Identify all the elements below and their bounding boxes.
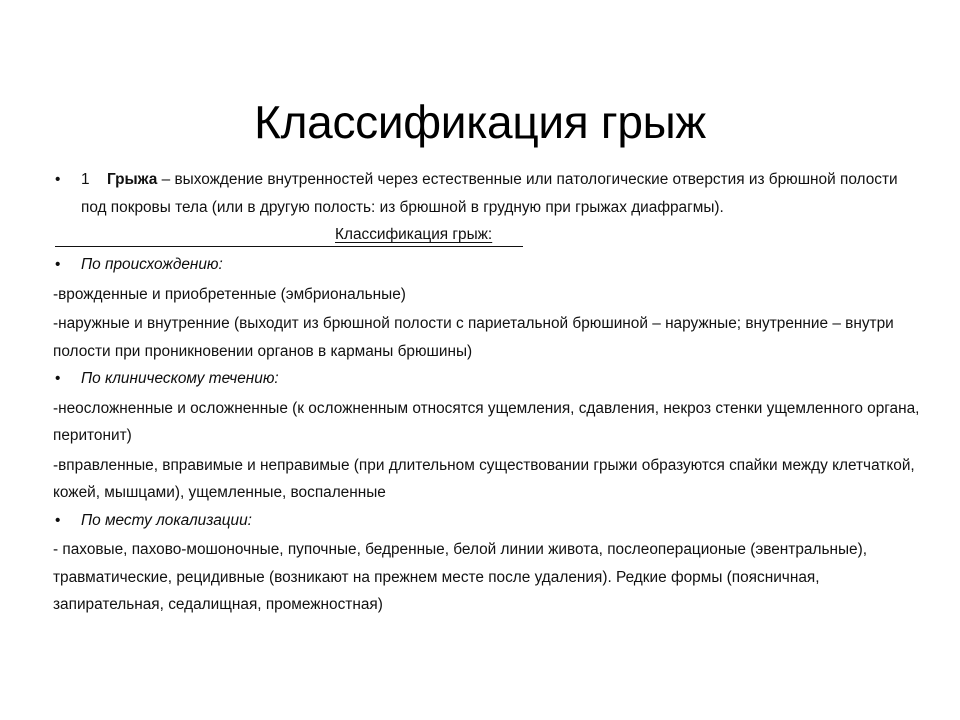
definition-term: Грыжа [107,171,157,188]
section-heading-clinical-course: • По клиническому течению: [47,365,927,393]
slide-canvas: Классификация грыж • 1Грыжа – выхождение… [0,0,960,720]
detail-line: -врожденные и приобретенные (эмбриональн… [47,281,927,309]
bullet-icon: • [55,365,60,393]
subheading-row: Классификация грыж: [47,222,927,249]
section-heading-localization: • По месту локализации: [47,507,927,535]
detail-line: -неосложненные и осложненные (к осложнен… [47,395,927,450]
detail-line: -вправленные, вправимые и неправимые (пр… [47,452,927,507]
bullet-icon: • [55,507,60,535]
section-heading-label: По клиническому течению: [81,370,279,387]
slide-body: • 1Грыжа – выхождение внутренностей чере… [47,166,927,619]
definition-text: – выхождение внутренностей через естеств… [81,171,898,216]
definition-number: 1 [81,166,107,194]
subheading-text: Классификация грыж: [335,222,492,247]
section-heading-origin: • По происхождению: [47,251,927,279]
page-title: Классификация грыж [0,95,960,149]
detail-line: - паховые, пахово-мошоночные, пупочные, … [47,536,927,619]
bullet-icon: • [55,251,60,279]
section-heading-label: По происхождению: [81,256,223,273]
bullet-icon: • [55,166,60,194]
definition-paragraph: • 1Грыжа – выхождение внутренностей чере… [47,166,927,221]
detail-line: -наружные и внутренние (выходит из брюшн… [47,310,927,365]
section-heading-label: По месту локализации: [81,512,252,529]
